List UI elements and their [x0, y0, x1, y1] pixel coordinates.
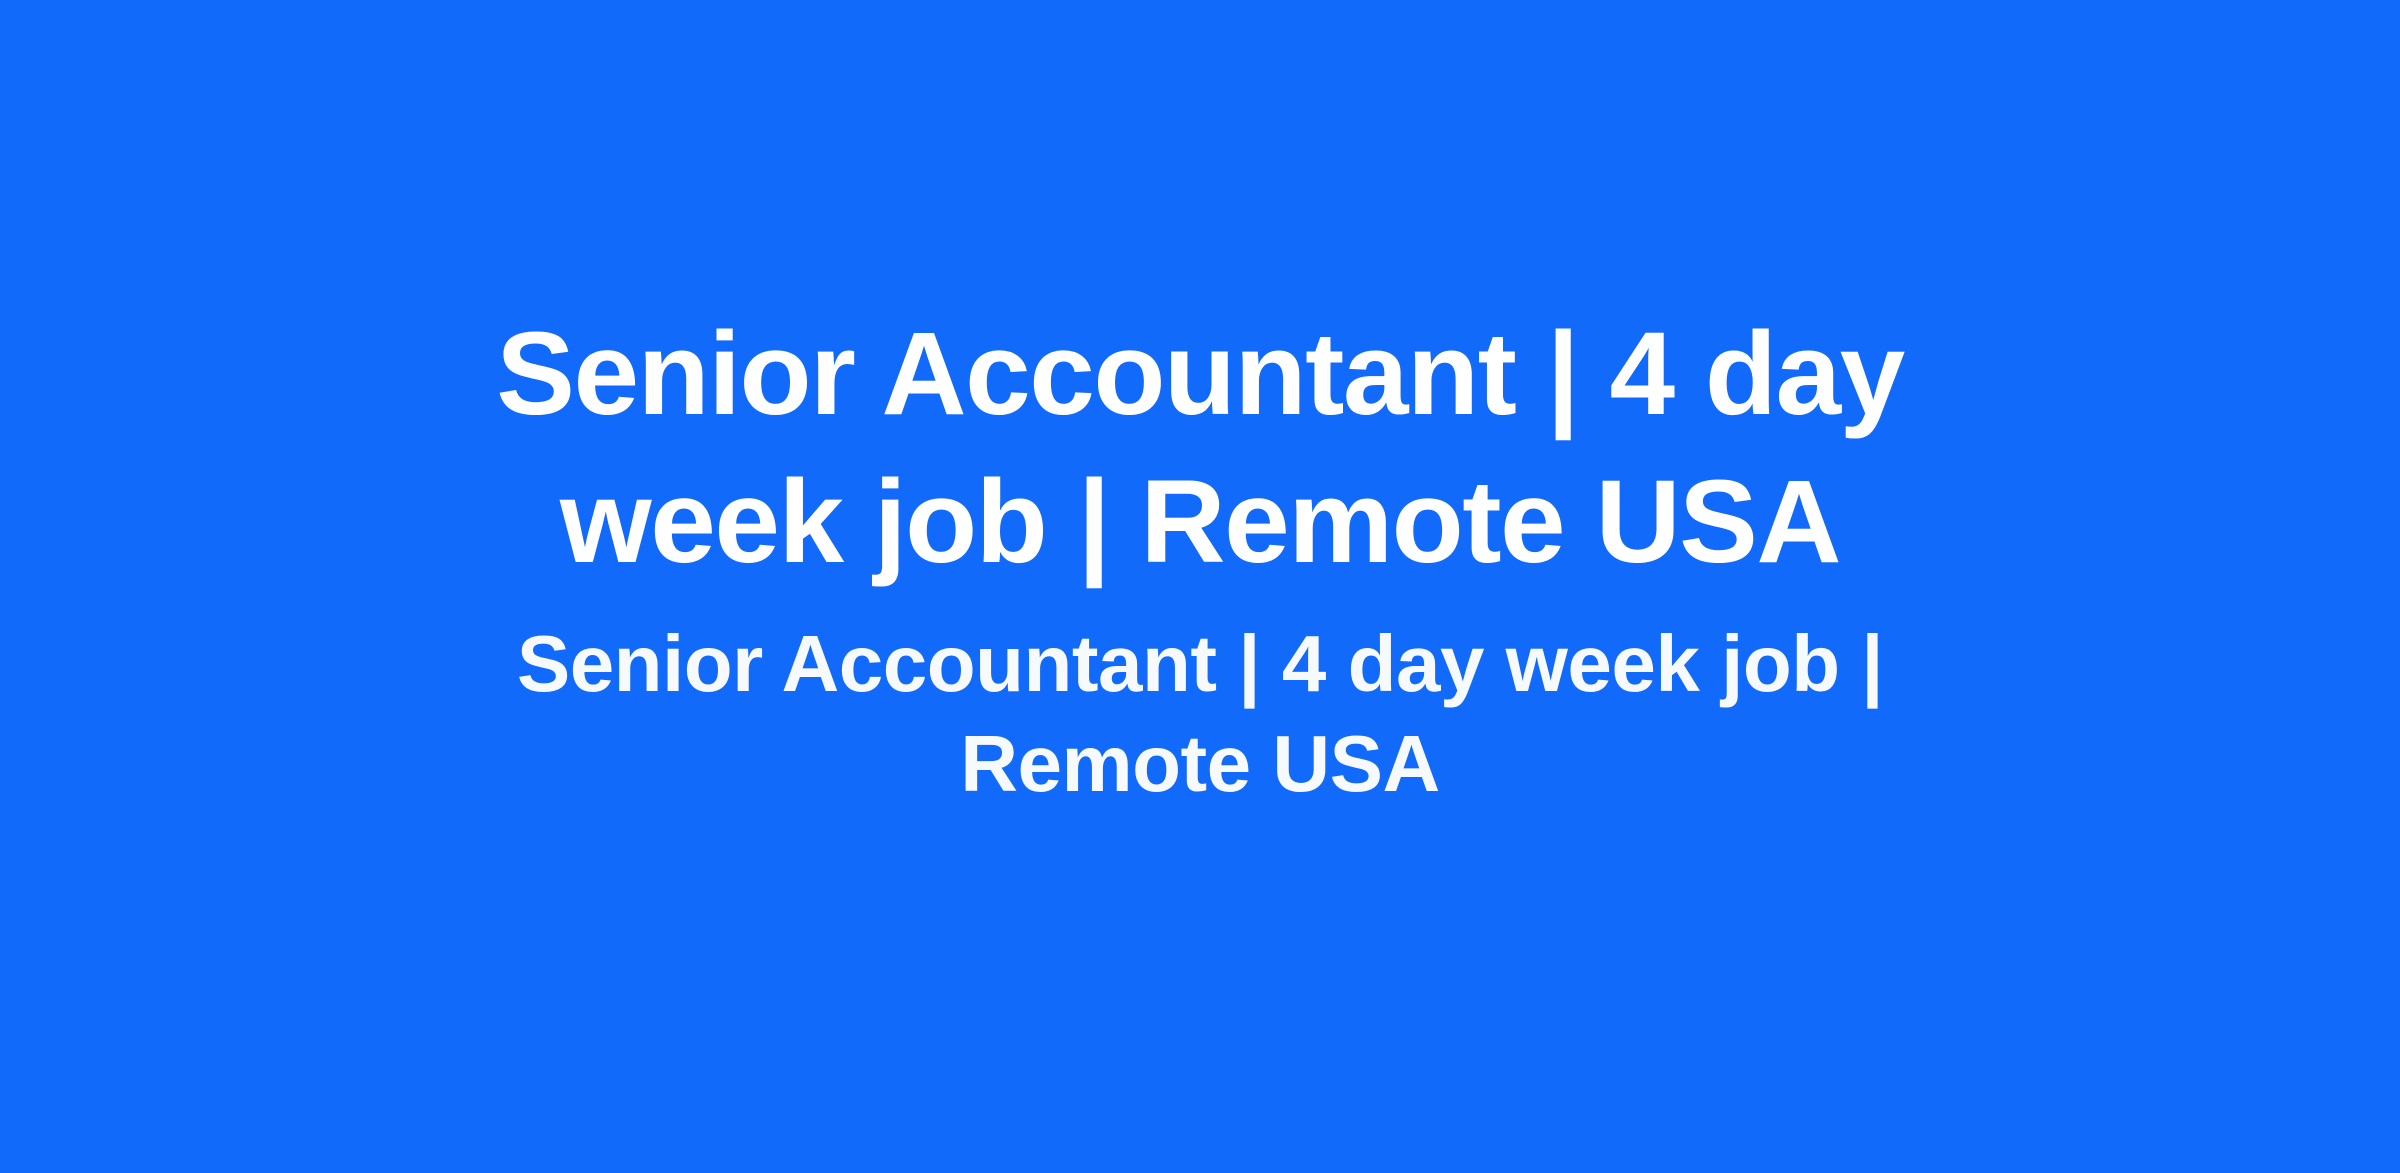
page-title: Senior Accountant | 4 day week job | Rem…: [450, 300, 1950, 596]
card-content: Senior Accountant | 4 day week job | Rem…: [200, 300, 2200, 814]
page-subtitle: Senior Accountant | 4 day week job | Rem…: [495, 614, 1905, 814]
share-card: Senior Accountant | 4 day week job | Rem…: [0, 0, 2400, 1173]
